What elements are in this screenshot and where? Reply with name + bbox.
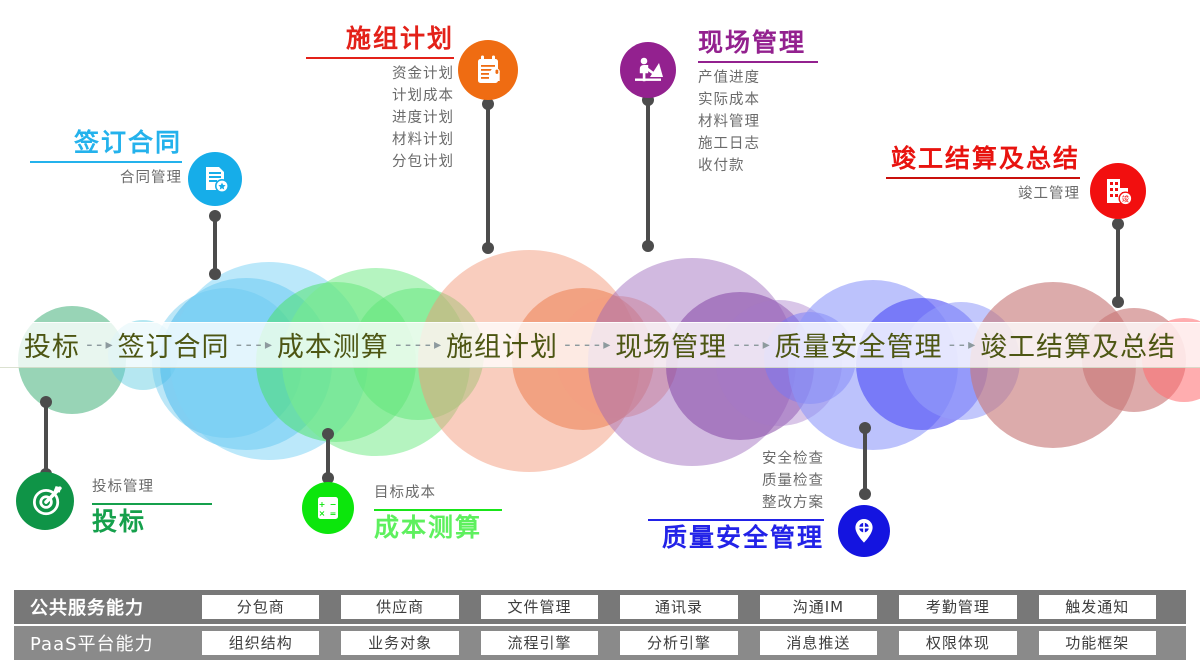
quality-item-2: 整改方案 [648,492,824,514]
stem-quality [863,428,867,494]
completed-building-stamp-icon[interactable]: 竣 [1090,163,1146,219]
flow-step-3[interactable]: 施组计划 [444,325,560,364]
cost-item-0: 目标成本 [374,482,514,504]
contract-document-icon[interactable] [188,152,242,206]
site-rule [698,61,818,63]
row-cells-public-service: 分包商 供应商 文件管理 通讯录 沟通IM 考勤管理 触发通知 [202,595,1186,619]
cap-cell-im[interactable]: 沟通IM [760,595,877,619]
calculator-icon[interactable]: + − × = [302,482,354,534]
cap-cell-trigger-notify[interactable]: 触发通知 [1039,595,1156,619]
cap-cell-contacts[interactable]: 通讯录 [620,595,737,619]
stem-site [646,100,650,248]
label-group-tender: 投标管理 投标 [92,476,222,535]
plan-item-0: 资金计划 [306,63,454,85]
site-item-1: 实际成本 [698,89,848,111]
cap-cell-file-management[interactable]: 文件管理 [481,595,598,619]
cap-cell-workflow-engine[interactable]: 流程引擎 [481,631,598,655]
capability-row-public-service: 公共服务能力 分包商 供应商 文件管理 通讯录 沟通IM 考勤管理 触发通知 [14,590,1186,624]
stem-dot-cost-top [322,428,334,440]
stem-dot-plan-bottom [482,242,494,254]
cap-cell-supplier[interactable]: 供应商 [341,595,458,619]
contract-item-0: 合同管理 [30,167,182,189]
quality-item-1: 质量检查 [648,470,824,492]
cap-cell-function-framework[interactable]: 功能框架 [1039,631,1156,655]
row-label-public-service: 公共服务能力 [14,594,202,620]
flow-connector-4: ---▸ [729,334,772,355]
flow-step-0[interactable]: 投标 [22,325,82,364]
capability-row-paas: PaaS平台能力 组织结构 业务对象 流程引擎 分析引擎 消息推送 权限体现 功… [14,626,1186,660]
flow-step-1[interactable]: 签订合同 [115,325,231,364]
plan-item-4: 分包计划 [306,151,454,173]
stem-dot-quality-top [859,422,871,434]
site-item-4: 收付款 [698,155,848,177]
capability-table: 公共服务能力 分包商 供应商 文件管理 通讯录 沟通IM 考勤管理 触发通知 P… [14,590,1186,660]
svg-text:+: + [319,500,326,509]
flow-connector-2: ----▸ [391,334,444,355]
stem-closeout [1116,224,1120,302]
label-group-contract: 签订合同 合同管理 [30,130,182,189]
stem-dot-contract-top [209,210,221,222]
cap-cell-analytics-engine[interactable]: 分析引擎 [620,631,737,655]
site-item-0: 产值进度 [698,67,848,89]
flow-band: 投标 --▸ 签订合同 ---▸ 成本测算 ----▸ 施组计划 ----▸ 现… [0,322,1200,366]
stem-dot-quality-bottom [859,488,871,500]
closeout-rule [886,177,1080,179]
stem-dot-closeout-top [1112,218,1124,230]
svg-text:=: = [330,509,337,518]
label-group-site: 现场管理 产值进度 实际成本 材料管理 施工日志 收付款 [698,30,848,177]
tender-item-0: 投标管理 [92,476,222,498]
cap-cell-permissions[interactable]: 权限体现 [899,631,1016,655]
quality-rule [648,519,824,521]
stem-plan [486,104,490,250]
closeout-title: 竣工结算及总结 [886,146,1080,172]
cap-cell-subcontractor[interactable]: 分包商 [202,595,319,619]
cap-cell-attendance[interactable]: 考勤管理 [899,595,1016,619]
clipboard-wrench-icon[interactable] [458,40,518,100]
cost-title: 成本测算 [374,515,514,541]
label-group-cost: 目标成本 成本测算 [374,482,514,541]
cap-cell-org-structure[interactable]: 组织结构 [202,631,319,655]
flow-connector-0: --▸ [82,334,116,355]
cost-rule [374,509,502,511]
flow-step-5[interactable]: 质量安全管理 [773,325,945,364]
row-cells-paas: 组织结构 业务对象 流程引擎 分析引擎 消息推送 权限体现 功能框架 [202,631,1186,655]
svg-text:竣: 竣 [1122,194,1129,203]
flow-step-6[interactable]: 竣工结算及总结 [978,325,1178,364]
contract-title: 签订合同 [30,130,182,156]
svg-text:×: × [319,509,326,518]
closeout-item-0: 竣工管理 [886,183,1080,205]
stem-dot-site-bottom [642,240,654,252]
stem-dot-tender-top [40,396,52,408]
label-group-quality: 安全检查 质量检查 整改方案 质量安全管理 [648,448,824,551]
target-dart-icon[interactable] [16,472,74,530]
plan-rule [306,57,454,59]
flow-step-4[interactable]: 现场管理 [613,325,729,364]
cap-cell-business-object[interactable]: 业务对象 [341,631,458,655]
tender-title: 投标 [92,509,222,535]
site-item-2: 材料管理 [698,111,848,133]
stem-dot-contract-bottom [209,268,221,280]
svg-text:−: − [330,500,337,509]
flow-step-2[interactable]: 成本测算 [275,325,391,364]
contract-rule [30,161,182,163]
stem-tender [44,402,48,474]
row-label-paas: PaaS平台能力 [14,630,202,656]
flow-connector-5: --▸ [945,334,979,355]
quality-title: 质量安全管理 [648,525,824,551]
site-item-3: 施工日志 [698,133,848,155]
capability-table-top-rule [14,586,1186,588]
flow-connector-1: ---▸ [231,334,274,355]
safety-location-pin-icon[interactable] [838,505,890,557]
cap-cell-message-push[interactable]: 消息推送 [760,631,877,655]
label-group-plan: 施组计划 资金计划 计划成本 进度计划 材料计划 分包计划 [306,26,454,173]
tender-rule [92,503,212,505]
stem-dot-closeout-bottom [1112,296,1124,308]
plan-item-2: 进度计划 [306,107,454,129]
plan-item-1: 计划成本 [306,85,454,107]
diagram-canvas: 投标 --▸ 签订合同 ---▸ 成本测算 ----▸ 施组计划 ----▸ 现… [0,0,1200,666]
flow-connector-3: ----▸ [560,334,613,355]
quality-item-0: 安全检查 [648,448,824,470]
plan-item-3: 材料计划 [306,129,454,151]
label-group-closeout: 竣工结算及总结 竣工管理 [886,146,1080,205]
site-title: 现场管理 [698,30,848,56]
construction-worker-icon[interactable] [620,42,676,98]
plan-title: 施组计划 [306,26,454,52]
